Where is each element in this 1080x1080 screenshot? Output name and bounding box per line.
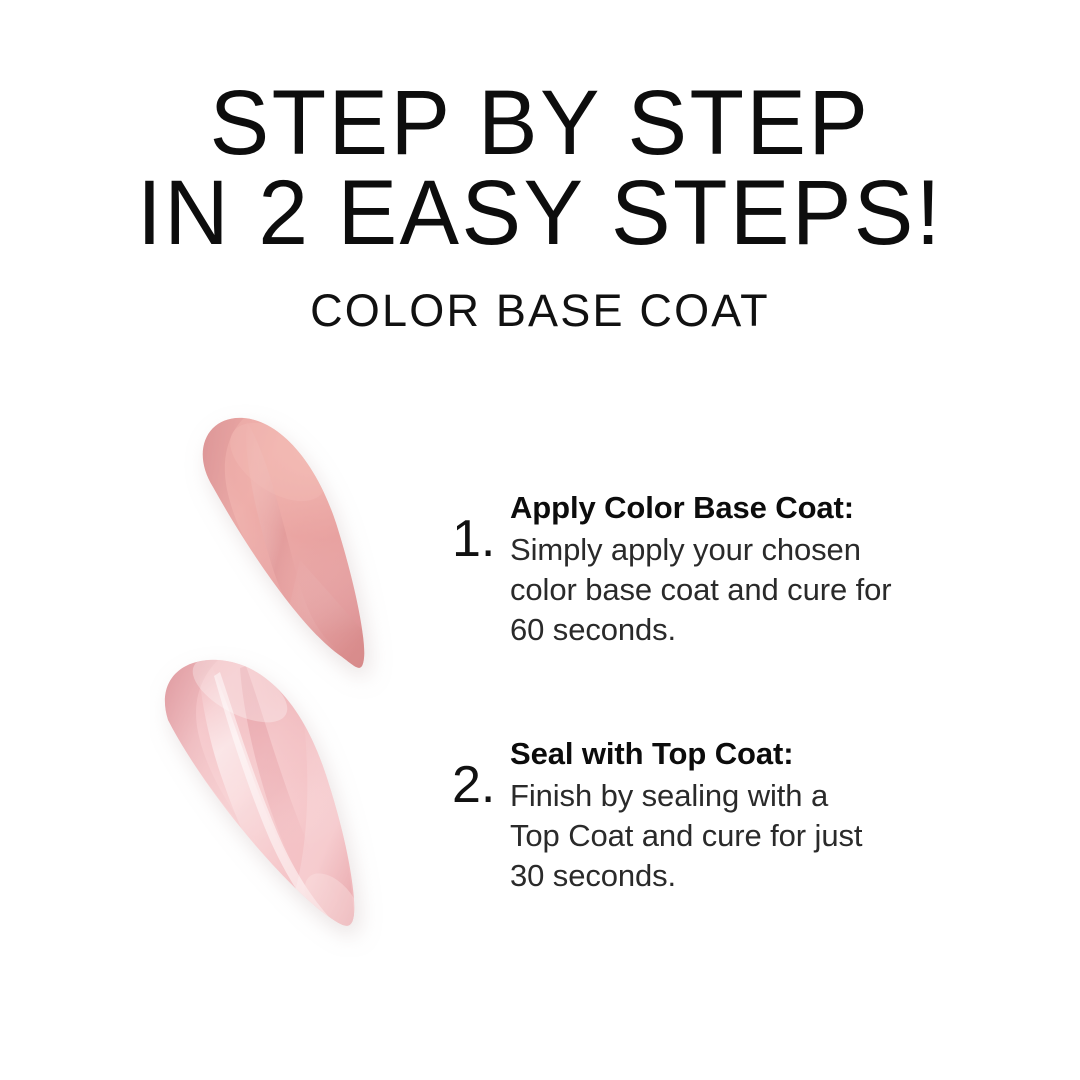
header: STEP BY STEP IN 2 EASY STEPS! COLOR BASE…: [0, 78, 1080, 336]
step-body-2: Seal with Top Coat: Finish by sealing wi…: [508, 734, 952, 896]
step-description-2: Finish by sealing with a Top Coat and cu…: [510, 776, 952, 896]
step-number-1: 1.: [452, 488, 508, 568]
nail-top-group: [150, 390, 450, 690]
nail-bottom-group: [150, 644, 450, 960]
nail-artwork: [150, 390, 450, 960]
step-number-2: 2.: [452, 734, 508, 814]
step-title-1: Apply Color Base Coat:: [510, 488, 952, 528]
step-item-1: 1. Apply Color Base Coat: Simply apply y…: [452, 488, 952, 650]
page-title-line-1: STEP BY STEP: [16, 78, 1064, 168]
nail-illustration: [150, 390, 450, 960]
step-body-1: Apply Color Base Coat: Simply apply your…: [508, 488, 952, 650]
poster-canvas: STEP BY STEP IN 2 EASY STEPS! COLOR BASE…: [0, 0, 1080, 1080]
step-item-2: 2. Seal with Top Coat: Finish by sealing…: [452, 734, 952, 896]
page-subtitle: COLOR BASE COAT: [0, 286, 1080, 336]
step-description-1: Simply apply your chosen color base coat…: [510, 530, 952, 650]
page-title-line-2: IN 2 EASY STEPS!: [16, 168, 1064, 258]
step-title-2: Seal with Top Coat:: [510, 734, 952, 774]
steps-list: 1. Apply Color Base Coat: Simply apply y…: [452, 488, 952, 896]
